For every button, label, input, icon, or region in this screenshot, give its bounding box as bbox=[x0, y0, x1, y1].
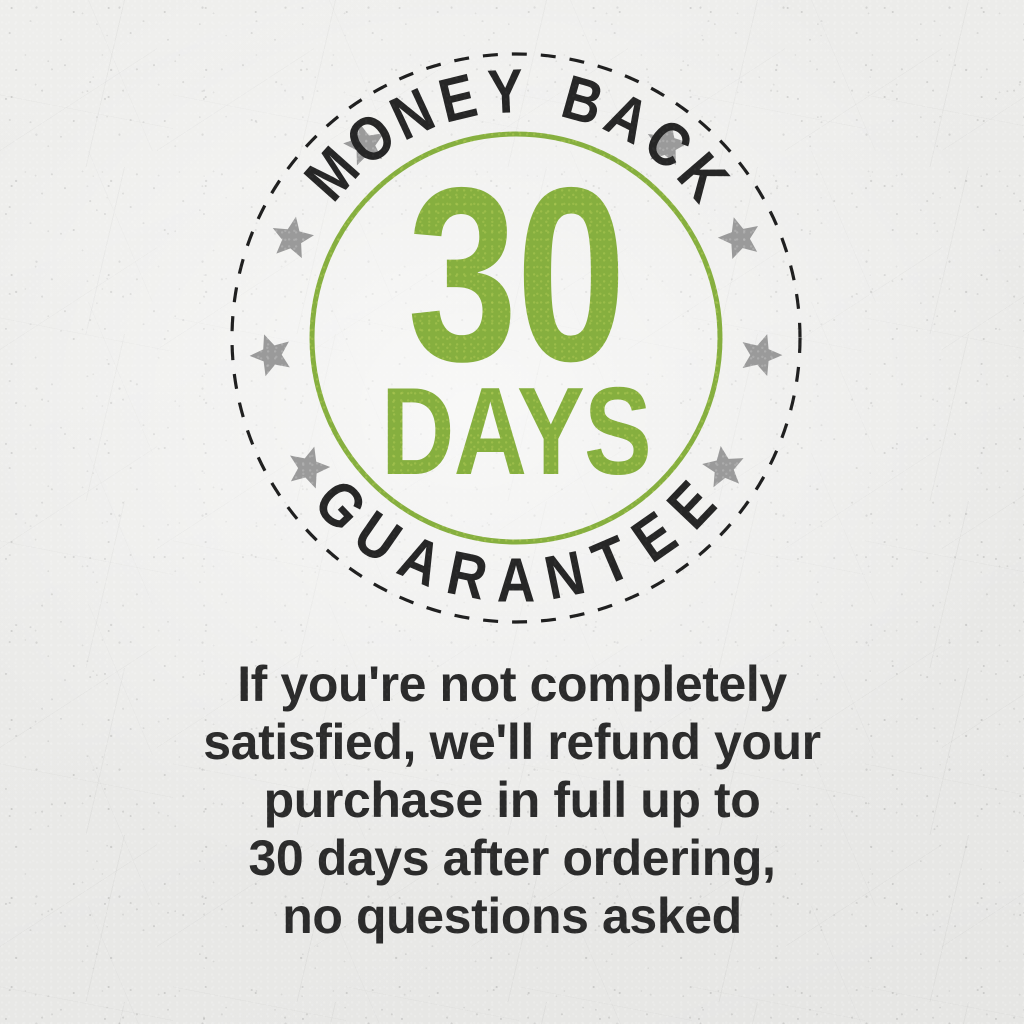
badge-center-stack: 30 DAYS bbox=[351, 187, 680, 489]
guarantee-badge-graphic: MONEYBACKGUARANTEE 30 DAYS If you're not… bbox=[0, 0, 1024, 1024]
copy-line-5: no questions asked bbox=[0, 887, 1024, 945]
arc-letter: A bbox=[497, 547, 536, 616]
copy-line-4: 30 days after ordering, bbox=[0, 829, 1024, 887]
days-label: DAYS bbox=[381, 377, 651, 489]
arc-letter: R bbox=[441, 539, 493, 614]
star-lower-left-icon bbox=[244, 327, 297, 379]
star-lower-right-icon bbox=[735, 328, 787, 379]
arc-letter: Y bbox=[486, 57, 524, 127]
star-bottom-right-icon bbox=[700, 443, 747, 488]
guarantee-policy-text: If you're not completely satisfied, we'l… bbox=[0, 655, 1024, 945]
arc-letter: N bbox=[539, 539, 591, 614]
days-number: 30 bbox=[384, 175, 647, 373]
star-bottom-left-icon bbox=[283, 441, 334, 491]
arc-letter: E bbox=[433, 61, 484, 136]
copy-line-2: satisfied, we'll refund your bbox=[0, 713, 1024, 771]
copy-line-3: purchase in full up to bbox=[0, 771, 1024, 829]
copy-line-1: If you're not completely bbox=[0, 655, 1024, 713]
star-mid-left-icon bbox=[268, 213, 316, 259]
star-mid-right-icon bbox=[714, 211, 765, 261]
